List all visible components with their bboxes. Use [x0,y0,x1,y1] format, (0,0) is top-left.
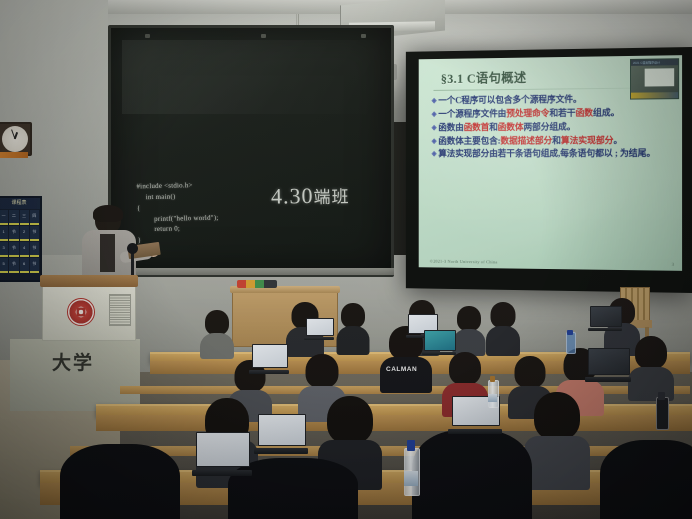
slide-bullet-text: 函数体主要包含:数据描述部分和算法实现部分。 [438,134,674,148]
student-body [486,326,520,356]
laptop-screen [196,432,250,467]
student [486,302,520,354]
pip-status-bar [631,92,678,98]
classroom-photo: 课程表 一二三四1节2节3节4节5节6节 #include <stdio.h>i… [0,0,692,519]
projection-screen: §3.1 C语句概述 ◈一个C程序可以包含多个源程序文件。◈一个源程序文件由预处… [406,47,692,293]
laptop[interactable] [590,306,620,331]
slide-bullet: ◈一个源程序文件由预处理命令和若干函数组成。 [432,106,675,121]
blackboard-code: #include <stdio.h>int main(){printf("hel… [136,179,267,247]
blackboard-clip [261,34,266,38]
slide-bullet: ◈函数体主要包含:数据描述部分和算法实现部分。 [432,134,675,148]
podium-top [40,275,138,287]
jacket-text: CALMAN [386,366,417,373]
laptop[interactable] [196,432,248,476]
bullet-marker-icon: ◈ [432,121,437,133]
schedule-cell: 四 [30,210,39,225]
student-body [524,436,590,490]
schedule-cell: 2 [20,226,29,241]
student-body [628,367,674,401]
bottle-cap [490,376,496,382]
wall-clock [0,122,32,156]
student-head [306,354,339,388]
laptop[interactable] [424,330,454,355]
blackboard-date: 4.30 [271,183,314,209]
bullet-marker-icon: ◈ [432,135,437,147]
laptop-base [588,328,623,332]
bottle-label [488,394,497,402]
blackboard-date-note: 4.30端班 [271,182,350,209]
water-bottle[interactable] [566,330,574,354]
slide-bullet-list: ◈一个C程序可以包含多个源程序文件。◈一个源程序文件由预处理命令和若干函数组成。… [428,92,674,161]
student-head [205,310,229,335]
slide-bullet-text: 算法实现部分由若干条语句组成,每条语句都以 ; 为结尾。 [438,147,674,161]
schedule-cell: 节 [9,242,18,257]
laptop-screen [424,330,456,351]
slide-keyword-highlight: 函数体 [498,122,524,132]
laptop-base [448,429,501,434]
slide-text-run: 函数体主要包含: [438,135,500,145]
laptop-base [422,352,457,356]
university-emblem-icon [67,298,95,326]
laptop-screen [588,348,630,375]
blackboard-clip [361,34,366,38]
slide-bullet: ◈算法实现部分由若干条语句组成,每条语句都以 ; 为结尾。 [432,147,675,161]
schedule-cell: 节 [30,226,39,241]
water-bottle[interactable] [488,376,497,408]
slide-bullet-text: 函数由函数首和函数体两部分组成。 [438,120,674,135]
laptop-base [254,448,307,454]
laptop[interactable] [258,414,304,454]
clock-face [2,126,28,152]
bullet-marker-icon: ◈ [432,95,437,107]
student-head [341,303,365,328]
cabinet-items [237,280,277,288]
student [200,310,234,356]
schedule-cell: 节 [30,258,39,273]
student [336,303,369,353]
schedule-cell: 节 [9,226,18,241]
foreground-student [600,440,692,519]
teacher-shirt [100,234,115,272]
blackboard: #include <stdio.h>int main(){printf("hel… [108,25,394,277]
schedule-grid: 一二三四1节2节3节4节5节6节 [0,209,40,274]
student-head [449,352,481,385]
slide-keyword-highlight: 函数首 [464,122,489,132]
slide-text-run: 两部分组成。 [523,121,575,131]
slide-copyright: ©2021-3 North University of China [430,259,498,265]
laptop[interactable] [306,318,332,340]
student-head [515,356,546,388]
podium-speaker-grill [109,294,131,326]
podium-microphone-icon [127,243,138,254]
slide-text-run: 函数由 [438,122,463,132]
pip-video-window[interactable]: 2021 C语言程序设计 [630,58,679,99]
student-head [327,396,373,444]
projected-slide: §3.1 C语句概述 ◈一个C程序可以包含多个源程序文件。◈一个源程序文件由预处… [419,55,682,271]
laptop-screen [258,414,306,446]
laptop[interactable] [252,344,286,374]
slide-text-run: 一个C程序可以包含多个源程序文件。 [438,94,581,105]
bottle-cap [407,440,416,451]
student-head [534,392,580,440]
slide-text-run: 和 [552,135,561,145]
laptop-base [585,377,631,382]
student-body [336,326,369,355]
schedule-board-header: 课程表 [0,198,40,209]
schedule-cell: 三 [20,210,29,225]
blackboard-clip [145,34,150,38]
blackboard-date-cn: 端班 [313,187,349,207]
schedule-cell: 1 [0,226,8,241]
bottle-cap [658,392,665,400]
laptop-screen [252,344,288,368]
bottle-body [656,397,669,430]
slide-keyword-highlight: 函数 [575,108,593,118]
laptop-base [304,337,334,340]
student [524,392,590,488]
student-body [200,333,234,359]
schedule-cell: 二 [9,210,18,225]
student-head [491,302,516,328]
foreground-student [60,444,180,519]
teacher-hair [93,205,123,222]
foreground-student [412,430,532,519]
student-head [457,306,481,331]
podium [42,283,136,341]
water-bottle[interactable] [656,392,667,430]
student-head [635,336,667,369]
bullet-marker-icon: ◈ [432,108,437,120]
pip-document-preview [645,68,675,86]
student [452,306,485,354]
laptop-screen [590,306,622,327]
schedule-cell: 一 [0,210,8,225]
slide-keyword-highlight: 预处理命令 [506,108,549,118]
slide-text-run: 组成。 [593,107,619,117]
blackboard-glare [122,40,380,114]
slide-text-run: 和 [489,122,498,132]
slide-text-run: 。 [613,135,622,145]
schedule-cell: 4 [20,242,29,257]
pip-video-feed [631,65,678,92]
slide-keyword-highlight: 数据描述部分 [500,135,552,145]
schedule-board: 课程表 一二三四1节2节3节4节5节6节 [0,196,42,282]
student [628,336,674,398]
chalk-tray [108,268,394,275]
desk-row-front [96,415,692,431]
student-jacket [380,357,432,393]
schedule-cell: 5 [0,258,8,273]
laptop-base [249,370,288,374]
schedule-cell: 节 [9,258,18,273]
slide-text-run: 和若干 [549,108,575,118]
schedule-cell: 6 [20,258,29,273]
slide-bullet: ◈函数由函数首和函数体两部分组成。 [432,120,675,135]
slide-page-number: 3 [672,262,674,267]
laptop-screen [306,318,334,336]
laptop-base [192,470,252,476]
clock-shelf-label [0,152,28,158]
slide-text-run: 算法实现部分由若干条语句组成,每条语句都以 ; 为结尾。 [438,148,655,158]
slide-keyword-highlight: 算法实现部分 [561,135,614,145]
schedule-cell: 3 [0,242,8,257]
laptop[interactable] [588,348,628,382]
bullet-marker-icon: ◈ [432,148,437,160]
wall-university-text: 大学 [52,348,94,375]
bottle-body [566,332,576,354]
slide-bullet-text: 一个源程序文件由预处理命令和若干函数组成。 [438,106,674,121]
water-bottle[interactable] [404,440,418,496]
schedule-cell: 节 [30,242,39,257]
bottle-cap [567,330,572,335]
bottle-label [404,471,418,486]
slide-text-run: 一个源程序文件由 [438,108,506,118]
